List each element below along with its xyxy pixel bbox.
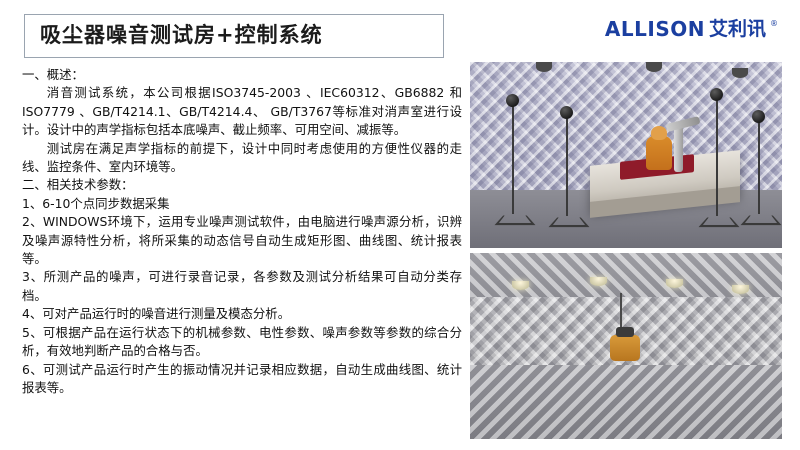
microphone-stand bbox=[512, 102, 514, 214]
overview-paragraph-2: 测试房在满足声学指标的前提下，设计中同时考虑使用的方便性仪器的走线、监控条件、室… bbox=[22, 140, 462, 177]
company-logo: ALLISON 艾利讯 ® bbox=[605, 18, 778, 40]
ceiling-light-icon bbox=[666, 279, 683, 288]
vacuum-device-top bbox=[616, 327, 634, 337]
logo-latin-text: ALLISON bbox=[605, 18, 705, 40]
vacuum-device bbox=[646, 136, 672, 170]
spec-item-4: 4、可对产品运行时的噪音进行测量及模态分析。 bbox=[22, 305, 462, 323]
robot-arm-vertical bbox=[674, 124, 683, 172]
ceiling-light-icon bbox=[512, 281, 529, 290]
slide-canvas: 吸尘器噪音测试房+控制系统 ALLISON 艾利讯 ® 一、概述： 消音测试系统… bbox=[0, 0, 800, 450]
ceiling-light-icon bbox=[646, 62, 662, 72]
body-text-block: 一、概述： 消音测试系统，本公司根据ISO3745-2003 、IEC60312… bbox=[22, 66, 462, 397]
page-title: 吸尘器噪音测试房+控制系统 bbox=[40, 20, 440, 50]
microphone-icon bbox=[560, 106, 573, 119]
vacuum-device-top bbox=[651, 126, 667, 140]
registered-trademark-icon: ® bbox=[770, 19, 778, 29]
microphone-stand bbox=[716, 96, 718, 216]
anechoic-chamber-interior-photo bbox=[470, 253, 782, 439]
ceiling-light-icon bbox=[536, 62, 552, 72]
chamber-floor-grid bbox=[470, 365, 782, 439]
spec-item-5: 5、可根据产品在运行状态下的机械参数、电性参数、噪声参数等参数的综合分析，有效地… bbox=[22, 324, 462, 361]
ceiling-light-icon bbox=[590, 277, 607, 286]
spec-item-3: 3、所测产品的噪声，可进行录音记录，各参数及测试分析结果可自动分类存档。 bbox=[22, 268, 462, 305]
microphone-icon bbox=[710, 88, 723, 101]
ceiling-light-icon bbox=[732, 285, 749, 294]
spec-item-1: 1、6-10个点同步数据采集 bbox=[22, 195, 462, 213]
spec-item-6: 6、可测试产品运行时产生的振动情况并记录相应数据，自动生成曲线图、统计报表等。 bbox=[22, 361, 462, 398]
overview-heading: 一、概述： bbox=[22, 66, 462, 84]
microphone-stand bbox=[758, 118, 760, 214]
microphone-stand bbox=[566, 114, 568, 216]
microphone-icon bbox=[506, 94, 519, 107]
anechoic-chamber-robot-test-photo bbox=[470, 62, 782, 248]
spec-item-2: 2、WINDOWS环境下，运用专业噪声测试软件，由电脑进行噪声源分析，识辨及噪声… bbox=[22, 213, 462, 268]
specs-heading: 二、相关技术参数： bbox=[22, 176, 462, 194]
vacuum-device bbox=[610, 335, 640, 361]
ceiling-light-icon bbox=[732, 68, 748, 78]
overview-paragraph-1: 消音测试系统，本公司根据ISO3745-2003 、IEC60312、GB688… bbox=[22, 84, 462, 139]
logo-chinese-text: 艾利讯 bbox=[709, 18, 766, 40]
microphone-icon bbox=[752, 110, 765, 123]
